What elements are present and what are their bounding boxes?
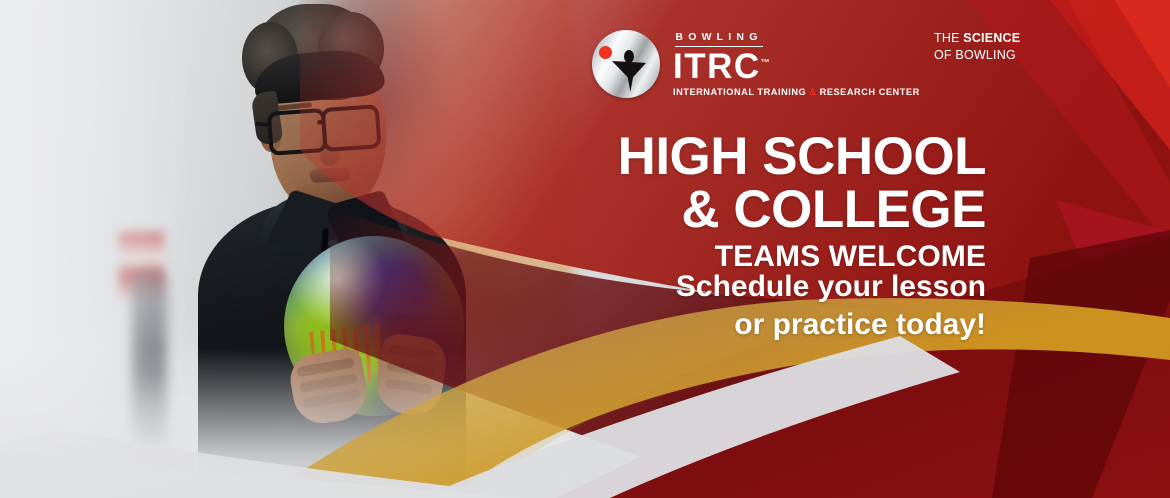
banner-content: BOWLING ITRC™ INTERNATIONAL TRAINING & R… [0, 0, 1170, 498]
science-of-bowling-tagline: THE SCIENCE OF BOWLING [934, 30, 1020, 63]
tagline-science: SCIENCE [963, 31, 1020, 45]
tagline-line-2: OF BOWLING [934, 47, 1020, 64]
promo-subheadline: Schedule your lesson or practice today! [612, 268, 986, 345]
logo-word-itrc: ITRC™ [673, 50, 920, 84]
tagline-line-1: THE SCIENCE [934, 30, 1020, 47]
itrc-promo-banner: BOWLING ITRC™ INTERNATIONAL TRAINING & R… [0, 0, 1170, 498]
headline-line-1: HIGH SCHOOL [612, 132, 986, 183]
itrc-bowler-mark-icon [592, 30, 660, 98]
itrc-logo-wordmark: BOWLING ITRC™ INTERNATIONAL TRAINING & R… [673, 31, 920, 97]
promo-headline: HIGH SCHOOL & COLLEGE TEAMS WELCOME [612, 132, 986, 275]
subheadline-line-2: or practice today! [612, 306, 986, 344]
logo-subtitle: INTERNATIONAL TRAINING & RESEARCH CENTER [673, 87, 920, 97]
logo-subtitle-ampersand: & [809, 87, 816, 97]
trademark-icon: ™ [761, 58, 770, 68]
logo-bowling-ball-icon [599, 46, 612, 59]
logo-figure-body [612, 61, 646, 92]
logo-bowler-figure-icon [612, 50, 646, 92]
itrc-logo[interactable]: BOWLING ITRC™ INTERNATIONAL TRAINING & R… [592, 30, 920, 98]
logo-figure-head [624, 50, 634, 63]
logo-subtitle-after: RESEARCH CENTER [817, 87, 920, 97]
logo-itrc-letters: ITRC [673, 47, 761, 86]
subheadline-line-1: Schedule your lesson [612, 268, 986, 306]
logo-subtitle-before: INTERNATIONAL TRAINING [673, 87, 809, 97]
tagline-the: THE [934, 31, 963, 45]
logo-word-bowling: BOWLING [675, 31, 763, 47]
headline-line-2: & COLLEGE [612, 183, 986, 236]
